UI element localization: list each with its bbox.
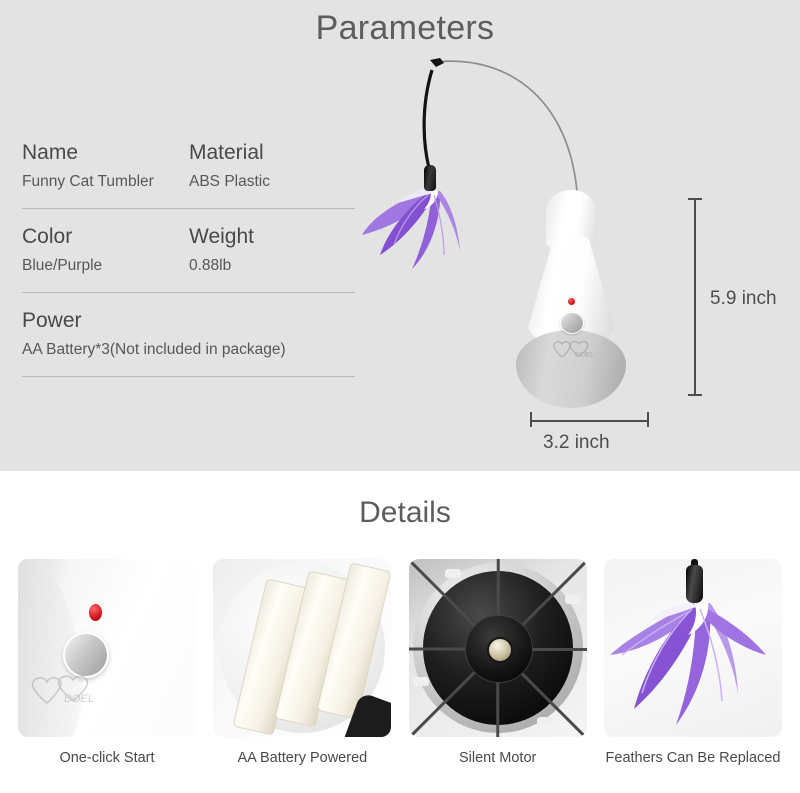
motor-hub-core <box>487 637 513 663</box>
spec-label: Power <box>22 306 356 336</box>
led-indicator-icon <box>89 604 102 621</box>
housing-tab <box>445 569 461 578</box>
spec-cell-name: Name Funny Cat Tumbler <box>22 138 189 196</box>
detail-card-silent-motor[interactable]: Silent Motor <box>409 559 587 768</box>
spec-row: Color Blue/Purple Weight 0.88lb <box>22 222 356 280</box>
detail-card-aa-battery[interactable]: AA Battery Powered <box>213 559 391 768</box>
spec-cell-color: Color Blue/Purple <box>22 222 189 280</box>
spec-divider <box>22 376 355 377</box>
height-dimension-label: 5.9 inch <box>710 288 777 310</box>
details-section: Details DOEL One-click Start <box>0 471 800 793</box>
product-photo: DOEL <box>360 40 700 440</box>
detail-card-replaceable-feathers[interactable]: Feathers Can Be Replaced <box>604 559 782 768</box>
detail-card-caption: Feathers Can Be Replaced <box>604 749 782 768</box>
feather-cluster-icon <box>360 165 480 275</box>
spec-divider <box>22 208 355 209</box>
spec-label: Name <box>22 138 189 168</box>
spec-row: Power AA Battery*3(Not included in packa… <box>22 306 356 364</box>
height-dimension-line <box>694 198 696 396</box>
motor-disc-icon <box>409 559 587 737</box>
feather-clip-icon <box>424 165 436 191</box>
spec-divider <box>22 292 355 293</box>
feather-attachment-icon <box>604 559 782 737</box>
feather-connector-icon <box>686 565 703 603</box>
spec-value: Funny Cat Tumbler <box>22 168 189 196</box>
spec-value: AA Battery*3(Not included in package) <box>22 336 356 364</box>
housing-tab <box>413 677 429 686</box>
height-dimension-cap-bottom <box>688 394 702 396</box>
led-indicator-icon <box>568 298 575 305</box>
feather-plumes-icon <box>360 165 480 275</box>
width-dimension-cap-right <box>647 412 649 427</box>
housing-tab <box>565 595 581 604</box>
detail-card-caption: Silent Motor <box>409 749 587 768</box>
tumbler-body: DOEL <box>513 190 628 408</box>
spec-label: Color <box>22 222 189 252</box>
detail-card-caption: One-click Start <box>18 749 196 768</box>
spec-value: 0.88lb <box>189 252 356 280</box>
details-heading: Details <box>0 496 800 530</box>
spec-cell-material: Material ABS Plastic <box>189 138 356 196</box>
svg-text:DOEL: DOEL <box>64 693 94 705</box>
spec-label: Weight <box>189 222 356 252</box>
spec-value: ABS Plastic <box>189 168 356 196</box>
spec-cell-weight: Weight 0.88lb <box>189 222 356 280</box>
detail-card-one-click-start[interactable]: DOEL One-click Start <box>18 559 196 768</box>
housing-tab <box>537 717 553 726</box>
detail-card-list: DOEL One-click Start AA Battery Powered <box>18 559 782 768</box>
svg-text:DOEL: DOEL <box>575 352 594 359</box>
spec-row: Name Funny Cat Tumbler Material ABS Plas… <box>22 138 356 196</box>
spec-cell-power: Power AA Battery*3(Not included in packa… <box>22 306 356 364</box>
battery-compartment-icon <box>213 559 391 737</box>
spec-label: Material <box>189 138 356 168</box>
brand-heart-logo-icon: DOEL <box>26 671 100 709</box>
width-dimension-line <box>530 420 648 422</box>
width-dimension-label: 3.2 inch <box>0 432 800 454</box>
details-heading-text: Details <box>359 496 451 529</box>
power-button-closeup-icon: DOEL <box>18 559 196 737</box>
parameters-section: Parameters Name Funny Cat Tumbler Materi… <box>0 0 800 471</box>
spec-value: Blue/Purple <box>22 252 189 280</box>
brand-heart-logo-icon: DOEL <box>549 338 597 360</box>
detail-card-caption: AA Battery Powered <box>213 749 391 768</box>
power-button-icon[interactable] <box>560 312 584 334</box>
product-infographic-page: Parameters Name Funny Cat Tumbler Materi… <box>0 0 800 793</box>
specification-table: Name Funny Cat Tumbler Material ABS Plas… <box>22 138 356 390</box>
